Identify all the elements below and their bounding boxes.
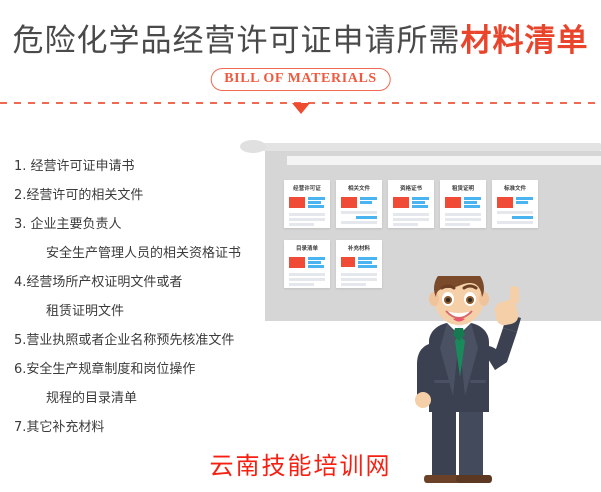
card-blue-line [516, 197, 533, 200]
card-gray-line [289, 273, 325, 276]
card-blue-line [464, 197, 481, 200]
list-item: 规程的目录清单 [14, 390, 264, 407]
list-item: 安全生产管理人员的相关资格证书 [14, 245, 264, 262]
document-card-label: 补充材料 [338, 245, 380, 252]
card-blue-line [358, 261, 372, 264]
document-card[interactable]: 标准文件 [492, 180, 538, 228]
right-pocket [470, 380, 486, 383]
card-gray-line [393, 223, 418, 226]
card-gray-line [289, 278, 325, 281]
board-rail [243, 143, 601, 151]
card-blue-line [464, 205, 480, 208]
rail-knob-icon [240, 140, 266, 153]
document-card-label: 经营许可证 [286, 185, 328, 192]
document-card[interactable]: 资格证书 [388, 180, 434, 228]
list-item: 3. 企业主要负责人 [14, 216, 264, 233]
card-red-block [341, 197, 357, 208]
document-card[interactable]: 目录清单 [284, 240, 330, 288]
card-gray-line [393, 218, 429, 221]
left-hand [415, 392, 431, 408]
document-card[interactable]: 补充材料 [336, 240, 382, 288]
card-gray-line [341, 278, 377, 281]
list-item: 2.经营许可的相关文件 [14, 187, 264, 204]
list-item: 租赁证明文件 [14, 303, 264, 320]
card-blue-line [516, 201, 528, 204]
list-item: 4.经营场所产权证明文件或者 [14, 274, 264, 291]
page-title-red-part: 材料清单 [461, 23, 589, 58]
list-item: 5.营业执照或者企业名称预先核准文件 [14, 332, 264, 349]
card-red-block [445, 197, 461, 208]
card-gray-line [341, 221, 377, 224]
infographic-canvas: 危险化学品经营许可证申请所需材料清单 BILL OF MATERIALS 经营许… [0, 0, 601, 492]
card-gray-line [393, 213, 429, 216]
card-blue-line [308, 197, 325, 200]
subtitle-pill: BILL OF MATERIALS [210, 68, 391, 91]
document-card-label: 相关文件 [338, 185, 380, 192]
watermark-text: 云南技能培训网 [0, 446, 601, 481]
card-gray-line [341, 211, 377, 214]
page-title: 危险化学品经营许可证申请所需材料清单 [0, 22, 601, 60]
card-blue-line [360, 197, 377, 200]
document-card[interactable]: 相关文件 [336, 180, 382, 228]
card-gray-line [497, 211, 533, 214]
card-gray-line [341, 283, 366, 286]
card-gray-line [445, 218, 481, 221]
card-blue-line [512, 216, 533, 219]
card-blue-line [358, 265, 377, 268]
card-red-block [341, 257, 355, 267]
right-forearm [493, 328, 517, 370]
card-blue-line [356, 216, 377, 219]
document-card-label: 标准文件 [494, 185, 536, 192]
right-hand [495, 300, 518, 325]
card-blue-line [412, 197, 429, 200]
document-card[interactable]: 经营许可证 [284, 180, 330, 228]
down-triangle-icon [292, 103, 310, 114]
card-red-block [497, 197, 513, 208]
document-card[interactable]: 租赁证明 [440, 180, 486, 228]
left-pocket [434, 380, 450, 383]
card-blue-line [308, 265, 324, 268]
document-card-label: 目录清单 [286, 245, 328, 252]
page-title-dark-part: 危险化学品经营许可证申请所需 [13, 23, 461, 58]
card-blue-line [412, 205, 428, 208]
card-blue-line [358, 257, 377, 260]
right-ear [479, 292, 489, 306]
list-item: 1. 经营许可证申请书 [14, 158, 264, 175]
card-blue-line [308, 261, 321, 264]
left-ear [429, 292, 439, 306]
card-gray-line [497, 221, 533, 224]
card-gray-line [289, 213, 325, 216]
card-red-block [393, 197, 409, 208]
pointing-finger [510, 286, 519, 303]
list-item: 6.安全生产规章制度和岗位操作 [14, 361, 264, 378]
card-gray-line [445, 213, 481, 216]
card-blue-line [308, 257, 325, 260]
card-gray-line [289, 283, 314, 286]
card-blue-line [360, 201, 372, 204]
list-item: 7.其它补充材料 [14, 419, 264, 436]
card-blue-line [464, 201, 477, 204]
materials-checklist: 1. 经营许可证申请书 2.经营许可的相关文件 3. 企业主要负责人 安全生产管… [14, 158, 264, 448]
left-arm [417, 344, 433, 396]
card-red-block [289, 257, 305, 268]
document-card-label: 资格证书 [390, 185, 432, 192]
card-gray-line [445, 223, 470, 226]
card-blue-line [308, 205, 324, 208]
left-pupil [446, 298, 450, 302]
card-gray-line [289, 218, 325, 221]
card-gray-line [341, 273, 377, 276]
document-card-label: 租赁证明 [442, 185, 484, 192]
card-gray-line [289, 223, 314, 226]
whiteboard-top-strip [287, 156, 601, 165]
card-red-block [289, 197, 305, 208]
right-pupil [468, 298, 472, 302]
card-blue-line [308, 201, 321, 204]
card-blue-line [412, 201, 425, 204]
